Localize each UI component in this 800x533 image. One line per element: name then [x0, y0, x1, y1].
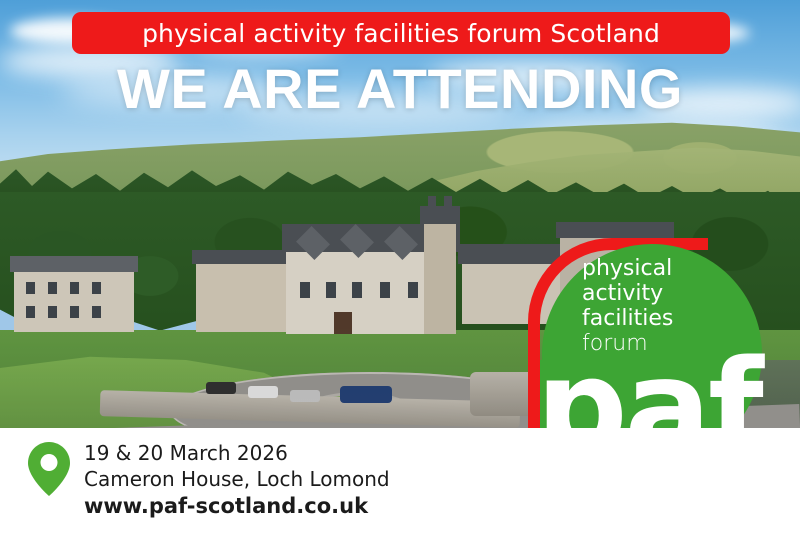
hotel-window: [300, 282, 310, 298]
hotel-window: [70, 306, 79, 318]
hotel-window: [92, 282, 101, 294]
event-date: 19 & 20 March 2026: [84, 440, 390, 466]
hotel-window: [92, 306, 101, 318]
location-pin-icon: [28, 442, 70, 496]
info-bar: 19 & 20 March 2026 Cameron House, Loch L…: [0, 428, 800, 533]
hotel-window: [26, 306, 35, 318]
parked-car: [206, 382, 236, 394]
headline: WE ARE ATTENDING: [0, 60, 800, 118]
hotel-entrance: [334, 312, 352, 334]
hotel-tower: [424, 222, 456, 334]
logo-line-physical: physical: [582, 256, 782, 281]
hotel-window: [26, 282, 35, 294]
hotel-turret: [428, 196, 436, 210]
hotel-tower-roof: [420, 206, 460, 224]
hotel-roof-left: [10, 256, 138, 272]
hotel-wing-left: [14, 268, 134, 332]
event-details: 19 & 20 March 2026 Cameron House, Loch L…: [84, 440, 390, 520]
event-venue: Cameron House, Loch Lomond: [84, 466, 390, 492]
logo-line-facilities: facilities: [582, 306, 782, 331]
hotel-window: [48, 306, 57, 318]
event-website[interactable]: www.paf-scotland.co.uk: [84, 492, 390, 520]
hotel-wing-mid-left: [196, 262, 288, 332]
hotel-window: [352, 282, 362, 298]
hotel-window: [326, 282, 336, 298]
parked-car: [290, 390, 320, 402]
hotel-window: [380, 282, 390, 298]
hotel-window: [408, 282, 418, 298]
hotel-turret: [444, 196, 452, 210]
hotel-roof: [192, 250, 292, 264]
top-banner: physical activity facilities forum Scotl…: [72, 12, 730, 54]
hotel-window: [48, 282, 57, 294]
logo-line-activity: activity: [582, 281, 782, 306]
event-poster: physical activity facilities forum Scotl…: [0, 0, 800, 533]
parked-van: [340, 386, 392, 403]
banner-text: physical activity facilities forum Scotl…: [142, 19, 660, 48]
parked-car: [248, 386, 278, 398]
hotel-window: [70, 282, 79, 294]
